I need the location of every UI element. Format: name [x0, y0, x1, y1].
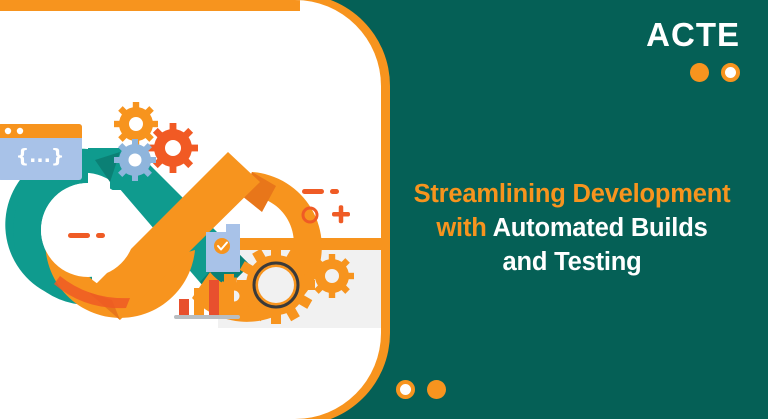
- bottom-dot-ring: [396, 380, 415, 399]
- code-window-group: {...}: [0, 124, 82, 180]
- bottom-dot-solid: [427, 380, 446, 399]
- gear-blue: [114, 139, 156, 181]
- gear-orange-top-right: [148, 123, 198, 173]
- gear-right: [310, 254, 354, 298]
- bottom-dot-group: [396, 380, 446, 399]
- illustration-panel: {...}: [0, 0, 390, 419]
- headline-line1: Streamlining Development: [414, 180, 731, 208]
- svg-text:{...}: {...}: [16, 145, 65, 167]
- logo-dot-solid: [690, 63, 709, 82]
- brand-logo[interactable]: ACTE: [646, 18, 740, 82]
- headline-line3: and Testing: [503, 248, 642, 276]
- headline-line2-main: Automated Builds: [493, 214, 708, 242]
- logo-dot-group: [646, 63, 740, 82]
- page-title: Streamlining Development with Automated …: [390, 178, 754, 280]
- logo-dot-ring: [721, 63, 740, 82]
- headline-line2-with: with: [436, 214, 486, 242]
- promo-banner: {...}: [0, 0, 768, 419]
- panel-white-face: {...}: [0, 0, 381, 419]
- logo-wordmark: ACTE: [646, 18, 740, 51]
- devops-illustration: {...}: [0, 0, 381, 419]
